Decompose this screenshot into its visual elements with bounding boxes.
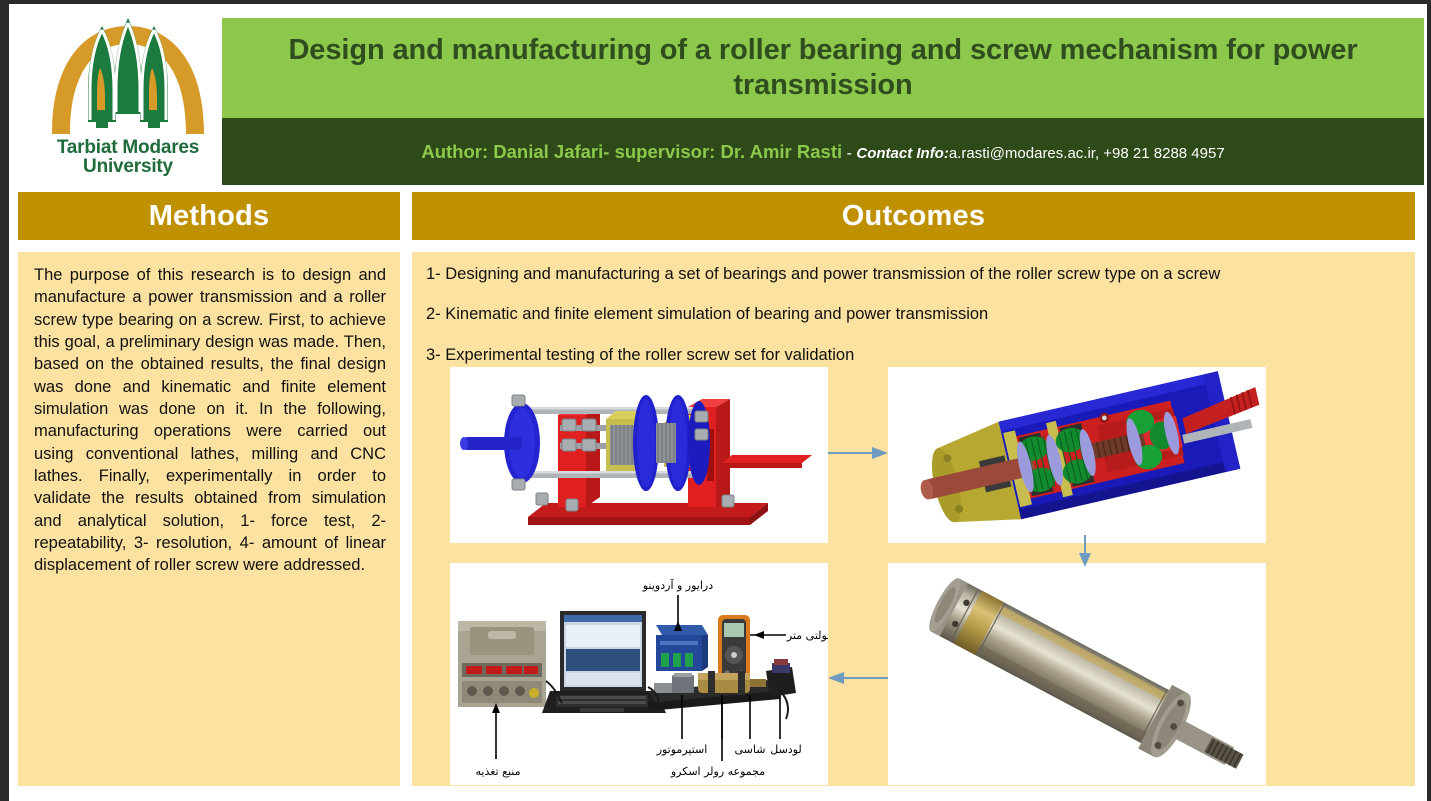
outcomes-list: 1- Designing and manufacturing a set of … — [412, 252, 1415, 366]
outcomes-panel: 1- Designing and manufacturing a set of … — [412, 252, 1415, 786]
label-chassis: شاسی — [735, 743, 766, 756]
cad-section-drawing — [888, 367, 1266, 543]
manufactured-part-drawing — [888, 563, 1266, 785]
arrow-right-icon — [828, 445, 888, 461]
section-header-outcomes: Outcomes — [412, 192, 1415, 240]
label-load-cell: لودسل — [770, 743, 801, 756]
test-setup-drawing: درایور و آردوینو مولتی متر استپرموتور شا… — [450, 563, 828, 785]
methods-panel: The purpose of this research is to desig… — [18, 252, 400, 786]
outcome-item-2: 2- Kinematic and finite element simulati… — [426, 304, 1415, 325]
university-logo: Tarbiat Modares University — [33, 10, 223, 186]
label-multimeter: مولتی متر — [786, 629, 828, 642]
figure-test-setup: درایور و آردوینو مولتی متر استپرموتور شا… — [450, 563, 828, 785]
poster-header: Tarbiat Modares University Design and ma… — [9, 4, 1427, 186]
label-driver-arduino: درایور و آردوینو — [642, 578, 713, 592]
right-border-rail — [1427, 0, 1431, 801]
left-border-rail — [0, 0, 9, 801]
cad-assembly-drawing — [450, 367, 828, 543]
figure-cad-assembly — [450, 367, 828, 543]
author-line: Author: Danial Jafari- supervisor: Dr. A… — [421, 141, 1224, 163]
methods-heading: Methods — [149, 200, 270, 233]
university-logo-mark — [40, 10, 216, 138]
logo-svg — [40, 10, 216, 138]
poster-title: Design and manufacturing of a roller bea… — [222, 33, 1424, 104]
figure-manufactured-part — [888, 563, 1266, 785]
label-stepper-motor: استپرموتور — [656, 743, 708, 756]
methods-body-text: The purpose of this research is to desig… — [18, 252, 400, 587]
university-name: Tarbiat Modares University — [57, 138, 199, 177]
university-name-line1: Tarbiat Modares — [57, 138, 199, 157]
arrow-down-icon — [1077, 535, 1093, 567]
arrow-left-icon — [828, 670, 888, 686]
label-roller-screw-set: مجموعه رولر اسکرو — [670, 765, 765, 778]
outcomes-heading: Outcomes — [842, 200, 985, 233]
section-header-methods: Methods — [18, 192, 400, 240]
author-names: Author: Danial Jafari- supervisor: Dr. A… — [421, 141, 842, 162]
outcome-item-1: 1- Designing and manufacturing a set of … — [426, 264, 1415, 285]
contact-label: Contact Info: — [856, 145, 948, 162]
label-power-supply: منبع تغذیه — [476, 765, 521, 778]
figure-cad-section — [888, 367, 1266, 543]
research-poster: Tarbiat Modares University Design and ma… — [0, 0, 1431, 801]
outcome-item-3: 3- Experimental testing of the roller sc… — [426, 345, 1415, 366]
university-name-line2: University — [57, 157, 199, 176]
contact-value: a.rasti@modares.ac.ir, +98 21 8288 4957 — [949, 145, 1225, 162]
title-bar: Design and manufacturing of a roller bea… — [222, 18, 1424, 118]
author-bar: Author: Danial Jafari- supervisor: Dr. A… — [222, 118, 1424, 185]
author-separator: - — [842, 145, 856, 162]
